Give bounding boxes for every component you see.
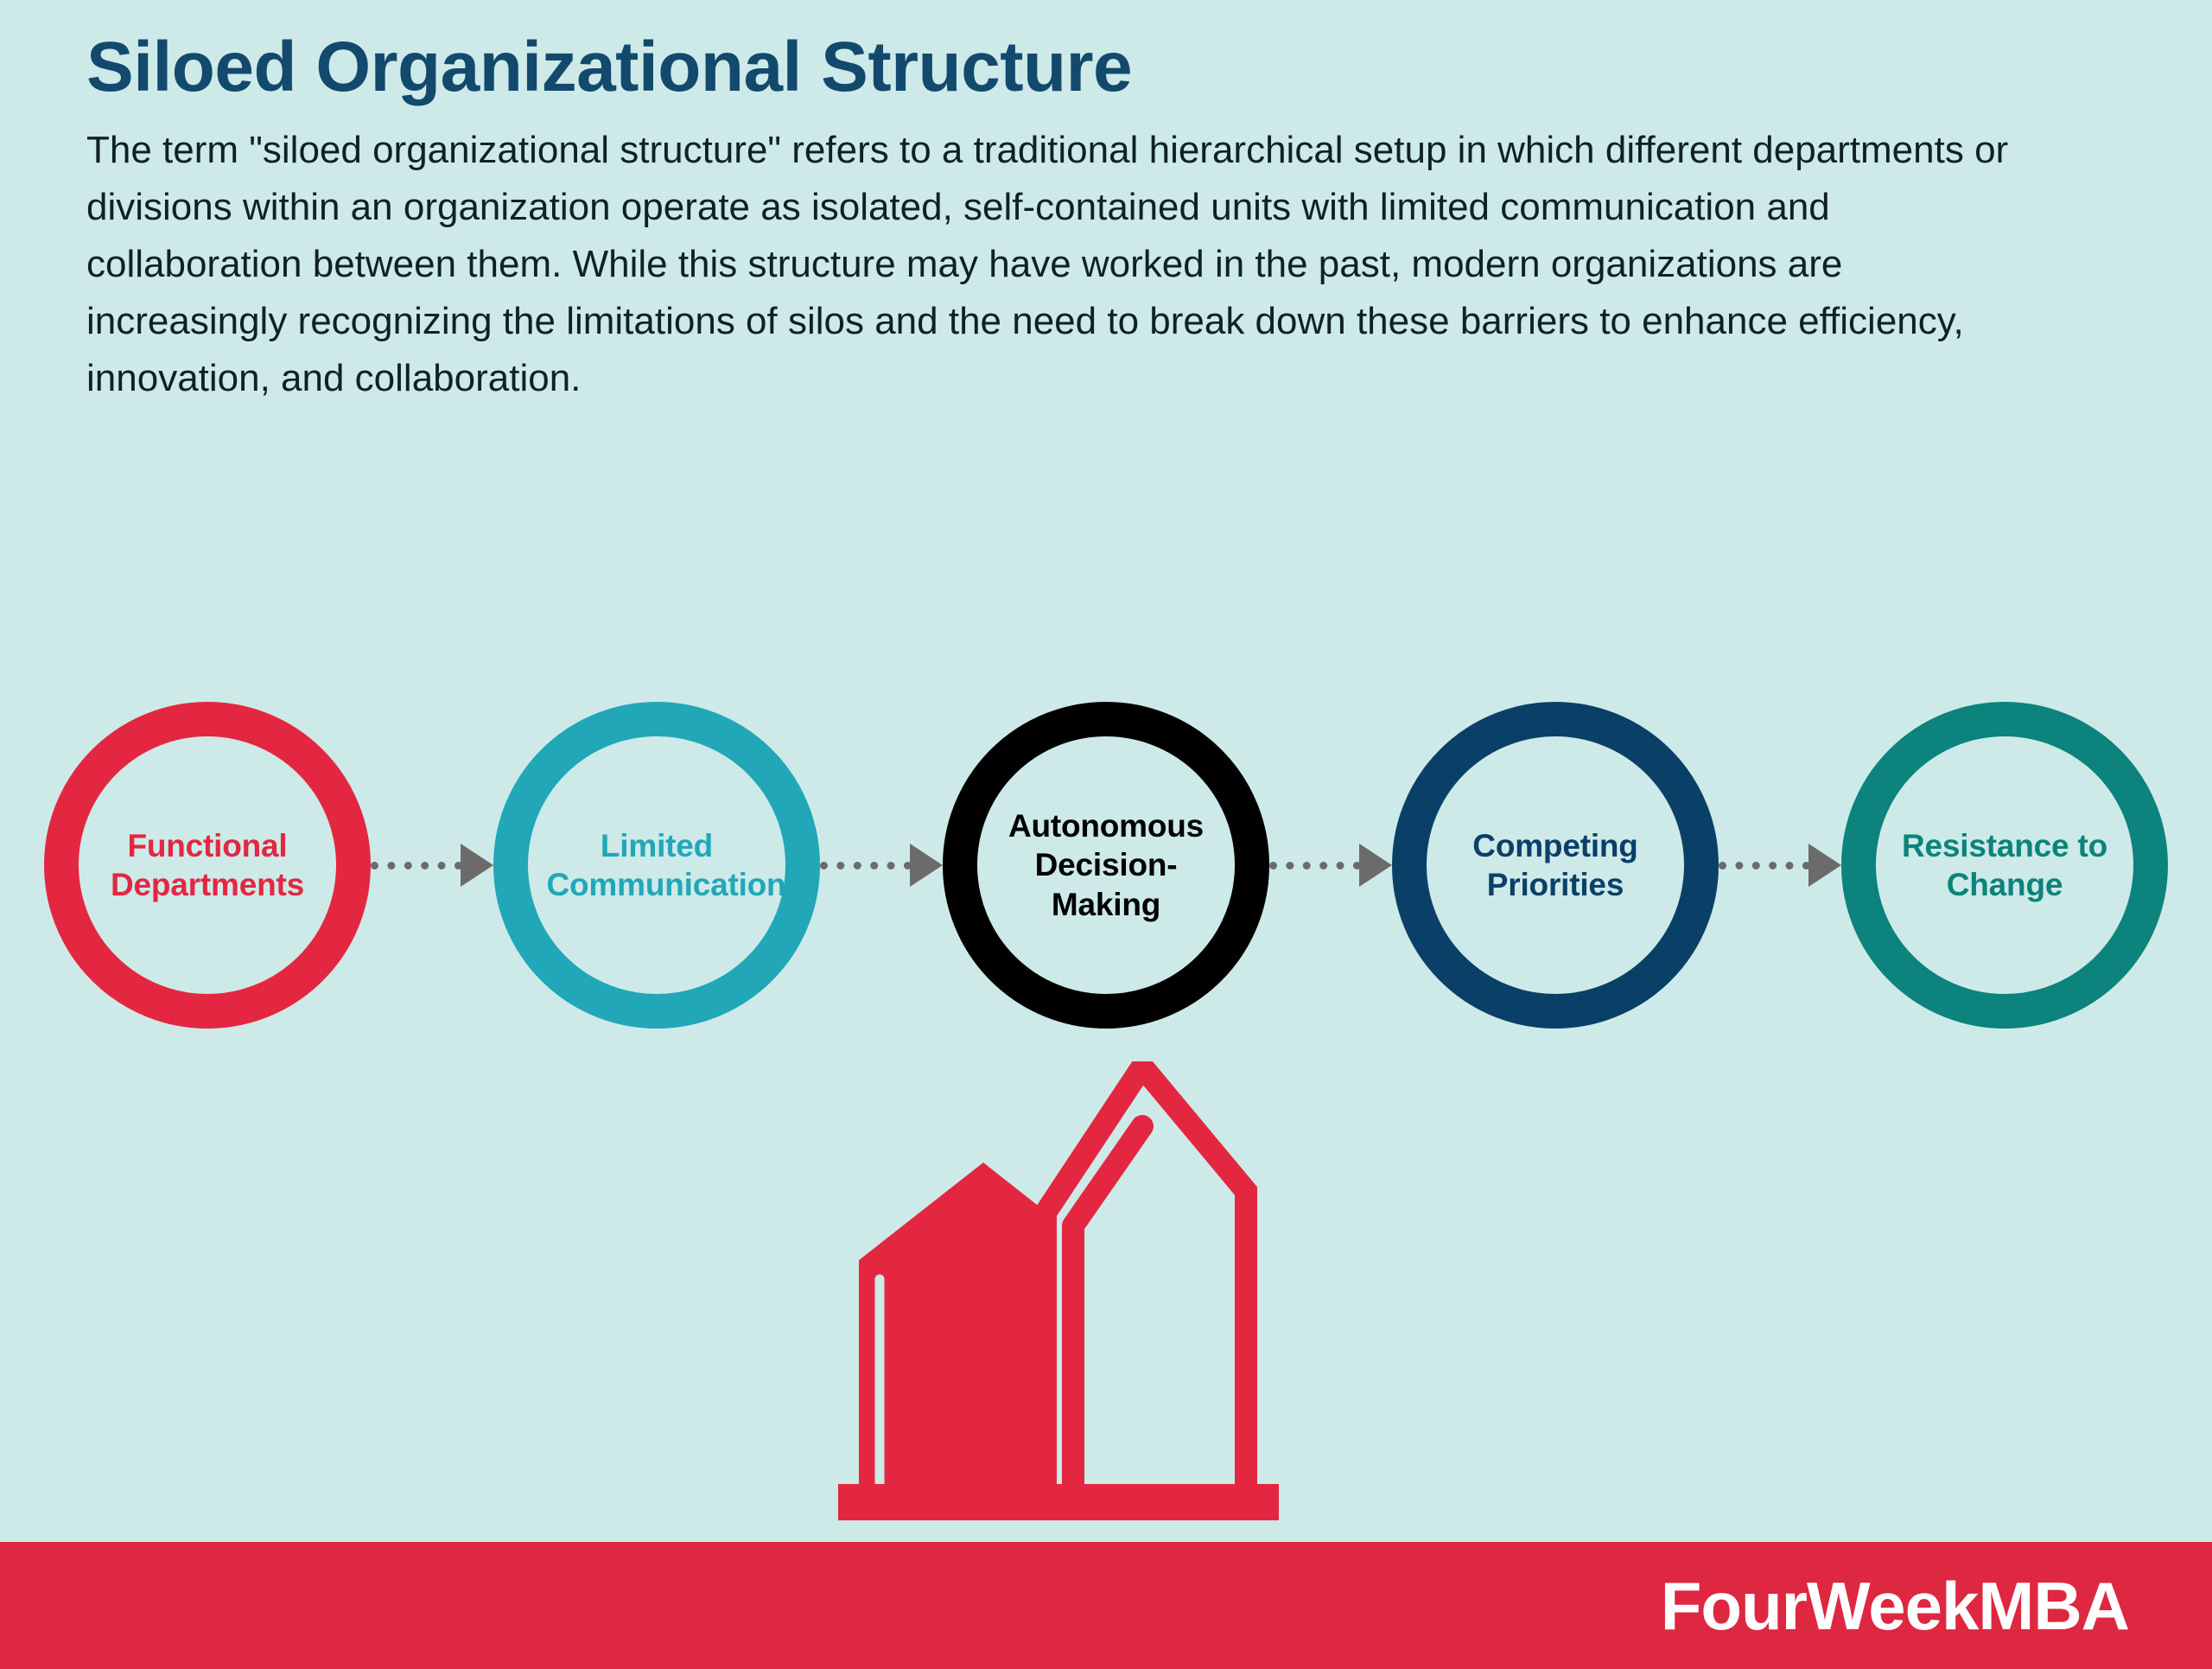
flow-node-label-line1: Autonomous bbox=[1008, 808, 1204, 844]
header-block: Siloed Organizational Structure The term… bbox=[86, 29, 2074, 407]
page-title: Siloed Organizational Structure bbox=[86, 29, 2074, 106]
flow-node-label-line2: Change bbox=[1947, 867, 2063, 902]
flow-node-label: Competing Priorities bbox=[1446, 826, 1666, 904]
flow-node-autonomous-decision-making[interactable]: Autonomous Decision-Making bbox=[943, 702, 1269, 1029]
flow-node-label-line1: Limited bbox=[601, 828, 713, 863]
infographic-canvas: Siloed Organizational Structure The term… bbox=[0, 0, 2212, 1669]
connector-dotted-line bbox=[1719, 862, 1810, 870]
flow-node-functional-departments[interactable]: Functional Departments bbox=[44, 702, 371, 1029]
arrow-head-icon bbox=[910, 844, 943, 887]
process-flow: Functional Departments Limited Communica… bbox=[0, 697, 2212, 1034]
flow-connector-4 bbox=[1719, 852, 1841, 878]
flow-node-label: Resistance to Change bbox=[1895, 826, 2115, 904]
flow-node-label-line1: Resistance to bbox=[1902, 828, 2107, 863]
flow-node-label-line2: Departments bbox=[111, 867, 304, 902]
footer-bar: FourWeekMBA bbox=[0, 1542, 2212, 1669]
page-description: The term "siloed organizational structur… bbox=[86, 122, 2039, 407]
flow-connector-3 bbox=[1269, 852, 1392, 878]
flow-node-label: Limited Communication bbox=[547, 826, 767, 904]
silos-icon bbox=[838, 1061, 1374, 1545]
flow-node-label: Autonomous Decision-Making bbox=[996, 806, 1217, 923]
brand-logo-text: FourWeekMBA bbox=[1661, 1572, 2129, 1640]
flow-connector-1 bbox=[371, 852, 493, 878]
flow-node-label-line2: Communication bbox=[547, 867, 786, 902]
arrow-head-icon bbox=[461, 844, 493, 887]
flow-node-label-line2: Priorities bbox=[1487, 867, 1624, 902]
flow-node-competing-priorities[interactable]: Competing Priorities bbox=[1392, 702, 1719, 1029]
arrow-head-icon bbox=[1359, 844, 1392, 887]
arrow-head-icon bbox=[1808, 844, 1841, 887]
flow-node-label: Functional Departments bbox=[98, 826, 318, 904]
flow-node-label-line1: Functional bbox=[127, 828, 287, 863]
flow-node-limited-communication[interactable]: Limited Communication bbox=[493, 702, 820, 1029]
connector-dotted-line bbox=[1269, 862, 1361, 870]
flow-node-label-line1: Competing bbox=[1472, 828, 1637, 863]
flow-node-resistance-to-change[interactable]: Resistance to Change bbox=[1841, 702, 2168, 1029]
flow-node-label-line2: Decision-Making bbox=[1035, 847, 1178, 921]
connector-dotted-line bbox=[820, 862, 912, 870]
connector-dotted-line bbox=[371, 862, 462, 870]
flow-connector-2 bbox=[820, 852, 943, 878]
